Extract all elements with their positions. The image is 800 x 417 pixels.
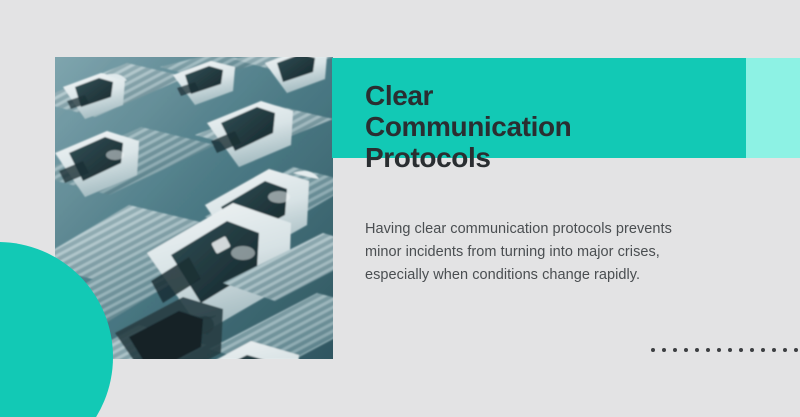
decorative-dot xyxy=(673,348,677,352)
decorative-dot xyxy=(728,348,732,352)
decorative-dot xyxy=(794,348,798,352)
decorative-dot-row xyxy=(651,348,798,352)
decorative-dot xyxy=(695,348,699,352)
decorative-dot xyxy=(684,348,688,352)
decorative-dot xyxy=(750,348,754,352)
page-title: Clear Communication Protocols xyxy=(365,77,765,177)
body-paragraph: Having clear communication protocols pre… xyxy=(365,218,685,288)
decorative-dot xyxy=(651,348,655,352)
decorative-dot xyxy=(717,348,721,352)
decorative-dot xyxy=(772,348,776,352)
slide-canvas: Clear Communication Protocols Having cle… xyxy=(0,0,800,417)
decorative-dot xyxy=(706,348,710,352)
decorative-dot xyxy=(783,348,787,352)
decorative-dot xyxy=(662,348,666,352)
decorative-dot xyxy=(761,348,765,352)
decorative-dot xyxy=(739,348,743,352)
